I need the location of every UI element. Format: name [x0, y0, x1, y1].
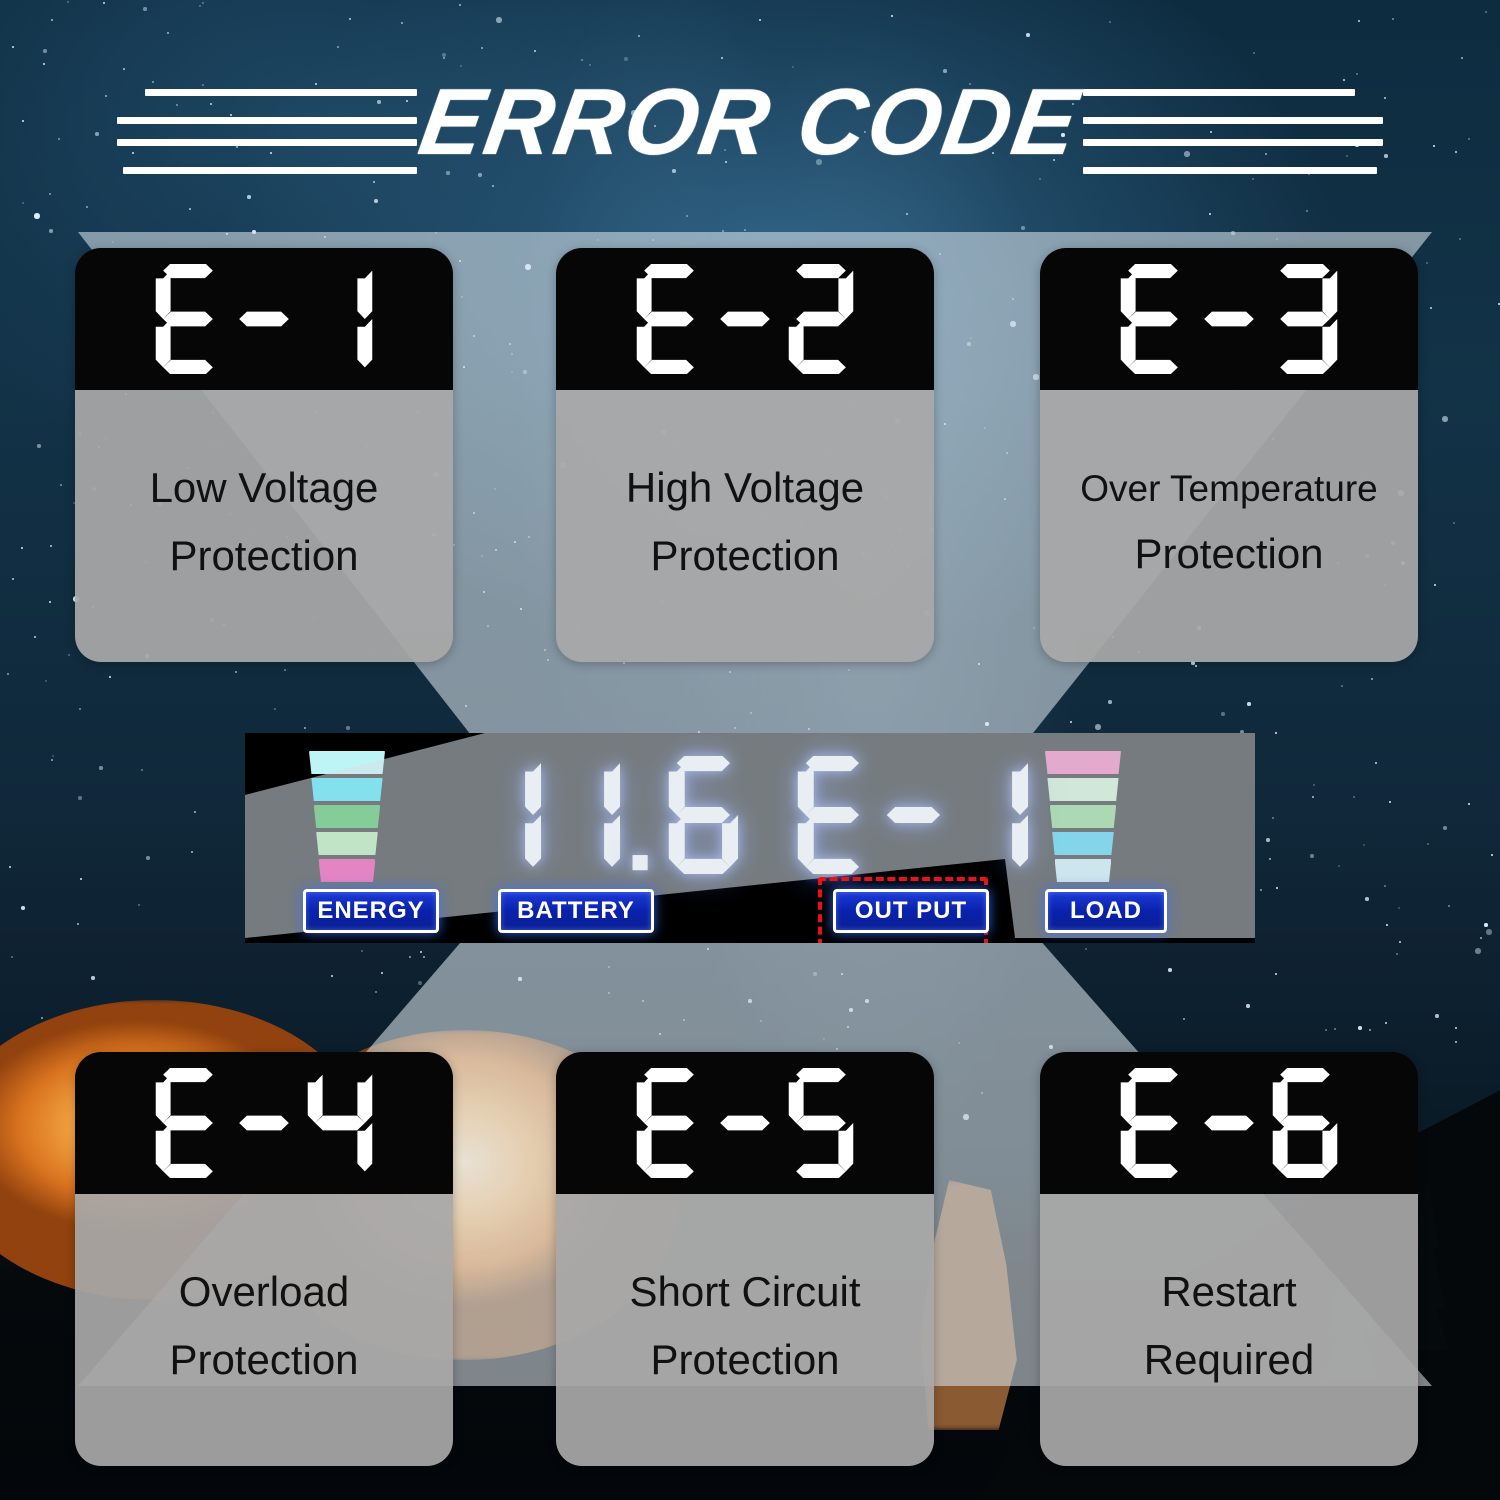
error-card-body: OverloadProtection [75, 1194, 453, 1466]
label-output[interactable]: OUT PUT [833, 889, 989, 933]
error-desc-line2: Protection [169, 535, 358, 577]
error-card-body: Low VoltageProtection [75, 390, 453, 662]
error-desc-line2: Protection [650, 1339, 839, 1381]
error-desc-line2: Required [1144, 1339, 1314, 1381]
error-card-e-6[interactable]: RestartRequired [1040, 1052, 1418, 1466]
error-desc-line1: High Voltage [626, 467, 864, 509]
error-code-display-e-3 [1040, 248, 1418, 390]
error-card-body: RestartRequired [1040, 1194, 1418, 1466]
error-desc-line1: Overload [179, 1271, 349, 1313]
error-desc-line2: Protection [169, 1339, 358, 1381]
error-code-display-e-5 [556, 1052, 934, 1194]
lcd-label-row: ENERGY BATTERY OUT PUT LOAD [245, 889, 1255, 931]
error-card-e-2[interactable]: High VoltageProtection [556, 248, 934, 662]
error-card-body: Over TemperatureProtection [1040, 390, 1418, 662]
error-code-display-e-2 [556, 248, 934, 390]
label-battery[interactable]: BATTERY [498, 889, 654, 933]
error-desc-line2: Protection [1134, 533, 1323, 575]
error-card-e-3[interactable]: Over TemperatureProtection [1040, 248, 1418, 662]
error-desc-line1: Over Temperature [1080, 470, 1378, 507]
error-card-e-1[interactable]: Low VoltageProtection [75, 248, 453, 662]
error-code-display-e-1 [75, 248, 453, 390]
error-desc-line1: Short Circuit [629, 1271, 860, 1313]
error-code-display-e-6 [1040, 1052, 1418, 1194]
label-load[interactable]: LOAD [1045, 889, 1167, 933]
error-code-display-e-4 [75, 1052, 453, 1194]
error-card-e-5[interactable]: Short CircuitProtection [556, 1052, 934, 1466]
label-energy[interactable]: ENERGY [303, 889, 439, 933]
error-card-body: High VoltageProtection [556, 390, 934, 662]
error-card-e-4[interactable]: OverloadProtection [75, 1052, 453, 1466]
error-desc-line1: Restart [1161, 1271, 1296, 1313]
infographic-stage: ERROR CODE Low VoltageProtectionHigh Vol… [0, 0, 1500, 1500]
error-desc-line2: Protection [650, 535, 839, 577]
error-desc-line1: Low Voltage [150, 467, 379, 509]
lcd-display-panel: ENERGY BATTERY OUT PUT LOAD [245, 733, 1255, 943]
error-card-body: Short CircuitProtection [556, 1194, 934, 1466]
